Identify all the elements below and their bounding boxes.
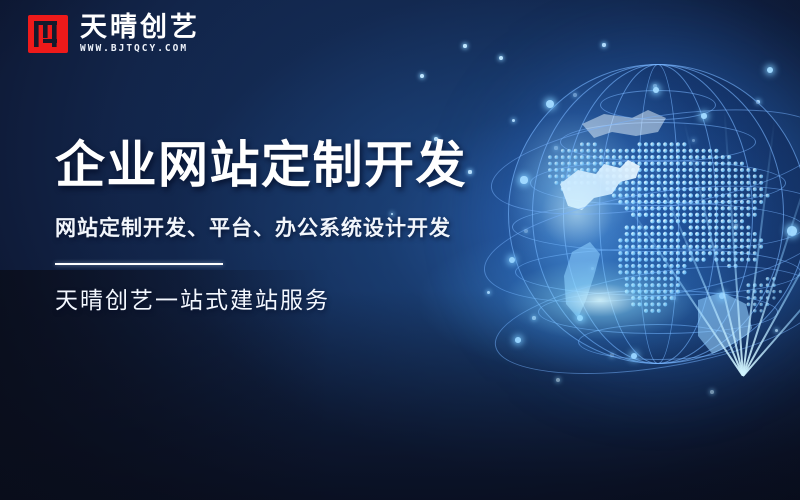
copy-divider — [55, 263, 223, 265]
site-logo[interactable]: 天晴创艺 WWW.BJTQCY.COM — [28, 14, 200, 54]
digital-globe — [508, 64, 800, 364]
logo-company-name: 天晴创艺 — [80, 14, 200, 41]
network-node — [631, 353, 637, 359]
star-dot — [556, 378, 561, 383]
banner-tagline: 天晴创艺一站式建站服务 — [55, 288, 467, 316]
star-dot — [499, 56, 503, 60]
network-node — [701, 113, 707, 119]
marketing-banner: 天晴创艺 WWW.BJTQCY.COM 企业网站定制开发 网站定制开发、平台、办… — [0, 0, 800, 500]
network-node — [520, 176, 527, 183]
tianqing-logo-mark-icon — [28, 15, 68, 53]
star-dot — [420, 74, 425, 79]
star-dot — [487, 291, 490, 294]
star-dot — [468, 170, 471, 173]
banner-subheadline: 网站定制开发、平台、办公系统设计开发 — [55, 216, 467, 241]
banner-headline: 企业网站定制开发 — [55, 136, 467, 194]
star-dot — [463, 44, 466, 47]
network-node — [515, 337, 521, 343]
logo-website-url: WWW.BJTQCY.COM — [80, 44, 200, 54]
star-dot — [602, 43, 605, 46]
network-node — [767, 67, 773, 73]
network-node — [787, 226, 797, 236]
network-node — [577, 315, 583, 321]
star-dot — [710, 390, 714, 394]
banner-copy: 企业网站定制开发 网站定制开发、平台、办公系统设计开发 天晴创艺一站式建站服务 — [55, 136, 467, 315]
